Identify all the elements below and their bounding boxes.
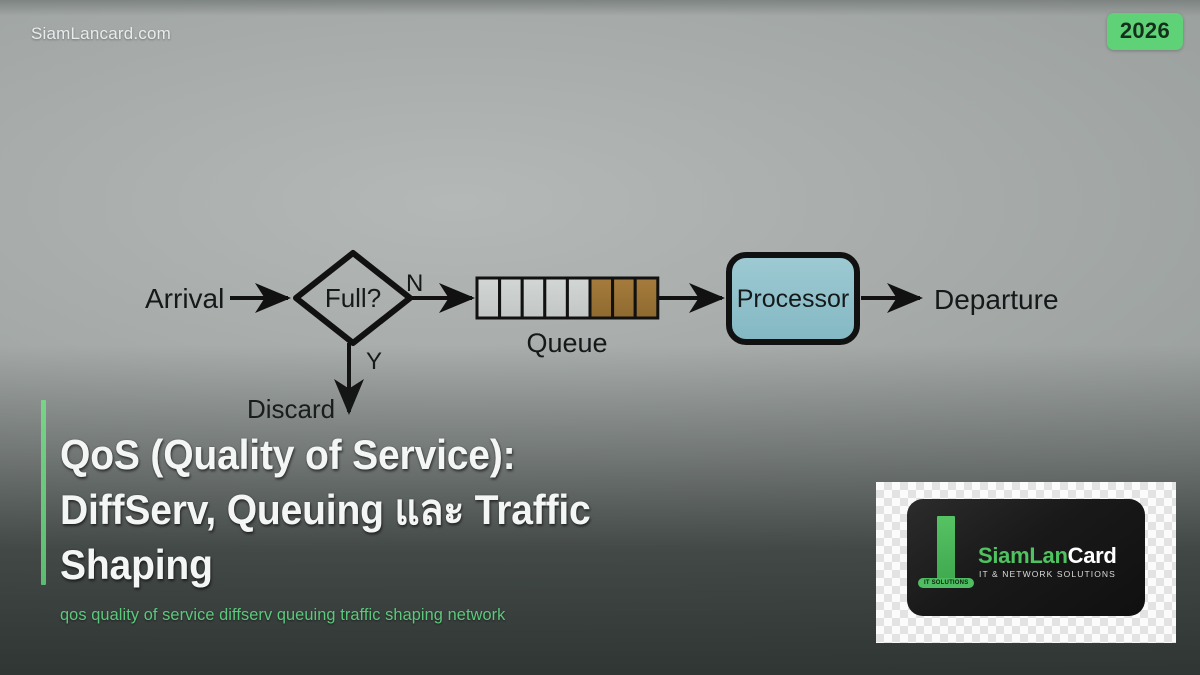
queue-cell-empty (500, 278, 523, 318)
year-badge: 2026 (1107, 13, 1183, 50)
queue-cell-empty (477, 278, 500, 318)
brand-logo-panel: IT SOLUTIONS SiamLanCard IT & NETWORK SO… (876, 482, 1176, 643)
title-line-1: QoS (Quality of Service): (60, 427, 692, 482)
queue-cell-empty (545, 278, 568, 318)
logo-wordmark-green: SiamLan (978, 543, 1068, 568)
title-accent-bar (41, 400, 46, 585)
queue-cell-empty (567, 278, 590, 318)
logo-subtitle: IT & NETWORK SOLUTIONS (979, 569, 1116, 579)
title-line-2: DiffServ, Queuing และ Traffic (60, 482, 692, 537)
page-title: QoS (Quality of Service): DiffServ, Queu… (60, 427, 692, 592)
logo-wordmark: SiamLanCard (978, 543, 1117, 569)
brand-logo-card: IT SOLUTIONS SiamLanCard IT & NETWORK SO… (907, 499, 1145, 616)
diagram-label-arrival: Arrival (145, 283, 224, 314)
top-vignette (0, 0, 1200, 16)
queue-cells (477, 278, 658, 318)
diagram-label-decision: Full? (325, 283, 381, 313)
logo-it-solutions-badge: IT SOLUTIONS (918, 578, 974, 588)
site-name-watermark: SiamLancard.com (31, 24, 171, 44)
tag-list: qos quality of service diffserv queuing … (60, 605, 790, 625)
logo-green-bar-icon (937, 516, 955, 586)
queue-cell-filled (635, 278, 658, 318)
diagram-label-queue: Queue (526, 328, 607, 358)
processor-box (729, 255, 857, 342)
diagram-label-branch-no: N (406, 270, 423, 297)
queue-cell-filled (613, 278, 636, 318)
slide-canvas: SiamLancard.com 2026 Arrival (0, 0, 1200, 675)
logo-wordmark-white: Card (1068, 543, 1117, 568)
queue-cell-empty (522, 278, 545, 318)
diagram-label-discard: Discard (247, 394, 335, 424)
diagram-label-departure: Departure (934, 284, 1059, 315)
queue-cell-filled (590, 278, 613, 318)
diagram-label-branch-yes: Y (366, 348, 382, 375)
diagram-label-processor: Processor (737, 285, 850, 313)
title-line-3: Shaping (60, 537, 692, 592)
decision-diamond (296, 253, 410, 343)
